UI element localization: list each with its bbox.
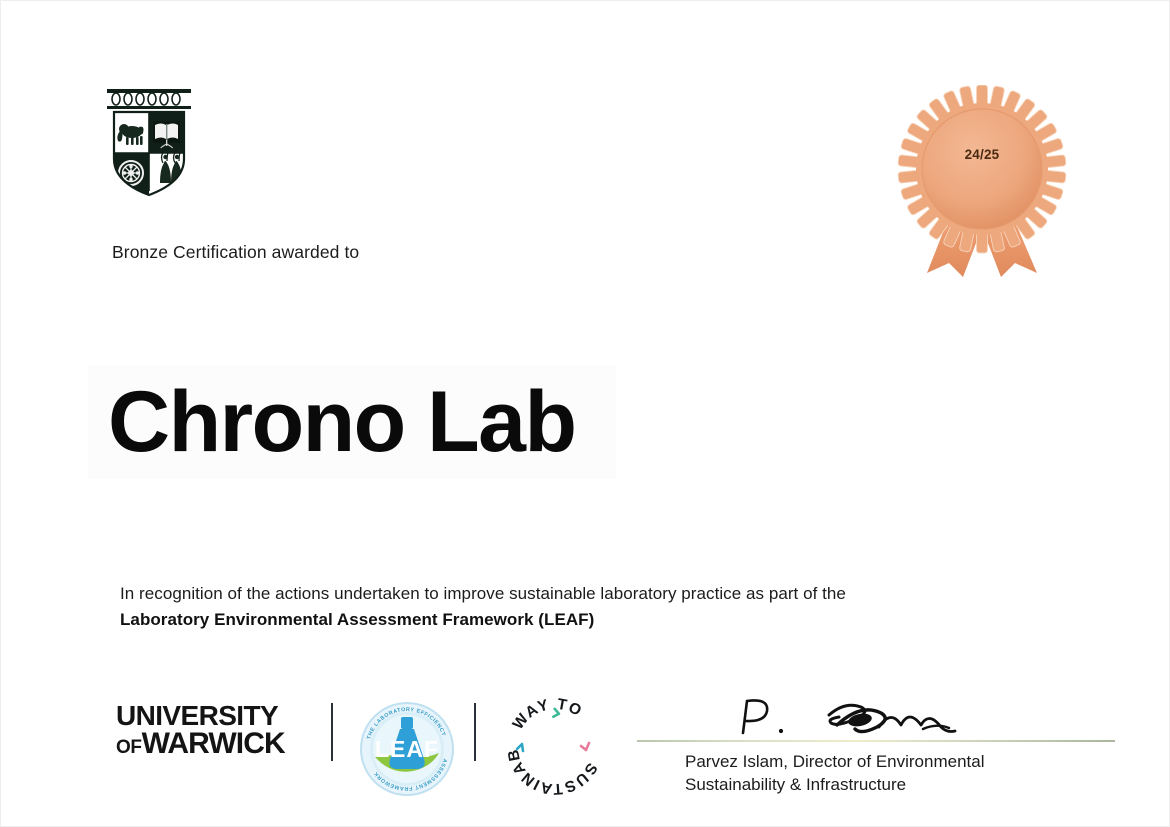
recognition-text: In recognition of the actions undertaken… <box>120 584 1000 630</box>
signatory-line-1: Parvez Islam, Director of Environmental <box>685 751 1117 774</box>
signatory-name-block: Parvez Islam, Director of Environmental … <box>685 751 1117 797</box>
signature-block: Parvez Islam, Director of Environmental … <box>637 693 1117 797</box>
svg-text:LEAF: LEAF <box>375 736 439 762</box>
signature-mark <box>733 693 1033 739</box>
svg-text:WAY TO: WAY TO <box>510 696 586 733</box>
footer-divider-2 <box>474 703 476 761</box>
lab-name: Chrono Lab <box>108 379 576 465</box>
certificate-page: Bronze Certification awarded to <box>0 0 1170 827</box>
warwick-logo-warwick: WARWICK <box>142 730 285 759</box>
footer-divider-1 <box>331 703 333 761</box>
signature-rule <box>637 740 1115 742</box>
warwick-logo-line-1: UNIVERSITY <box>116 703 285 730</box>
leaf-logo: LEAF THE LABORATORY EFFICIENCY ASSESSMEN… <box>359 701 455 797</box>
bronze-rosette-icon: 24/25 <box>891 85 1073 277</box>
recognition-line-2: Laboratory Environmental Assessment Fram… <box>120 610 1000 630</box>
way-to-sustainable-logo: WAY TO SUSTAINABLE <box>501 693 609 801</box>
warwick-logo-of: OF <box>116 739 142 757</box>
recognition-line-1: In recognition of the actions undertaken… <box>120 584 1000 604</box>
lab-name-box: Chrono Lab <box>88 365 616 479</box>
university-of-warwick-logo: UNIVERSITY OF WARWICK <box>116 703 285 758</box>
awarded-to-label: Bronze Certification awarded to <box>112 242 359 263</box>
warwick-crest-icon <box>105 87 193 199</box>
signatory-line-2: Sustainability & Infrastructure <box>685 774 1117 797</box>
